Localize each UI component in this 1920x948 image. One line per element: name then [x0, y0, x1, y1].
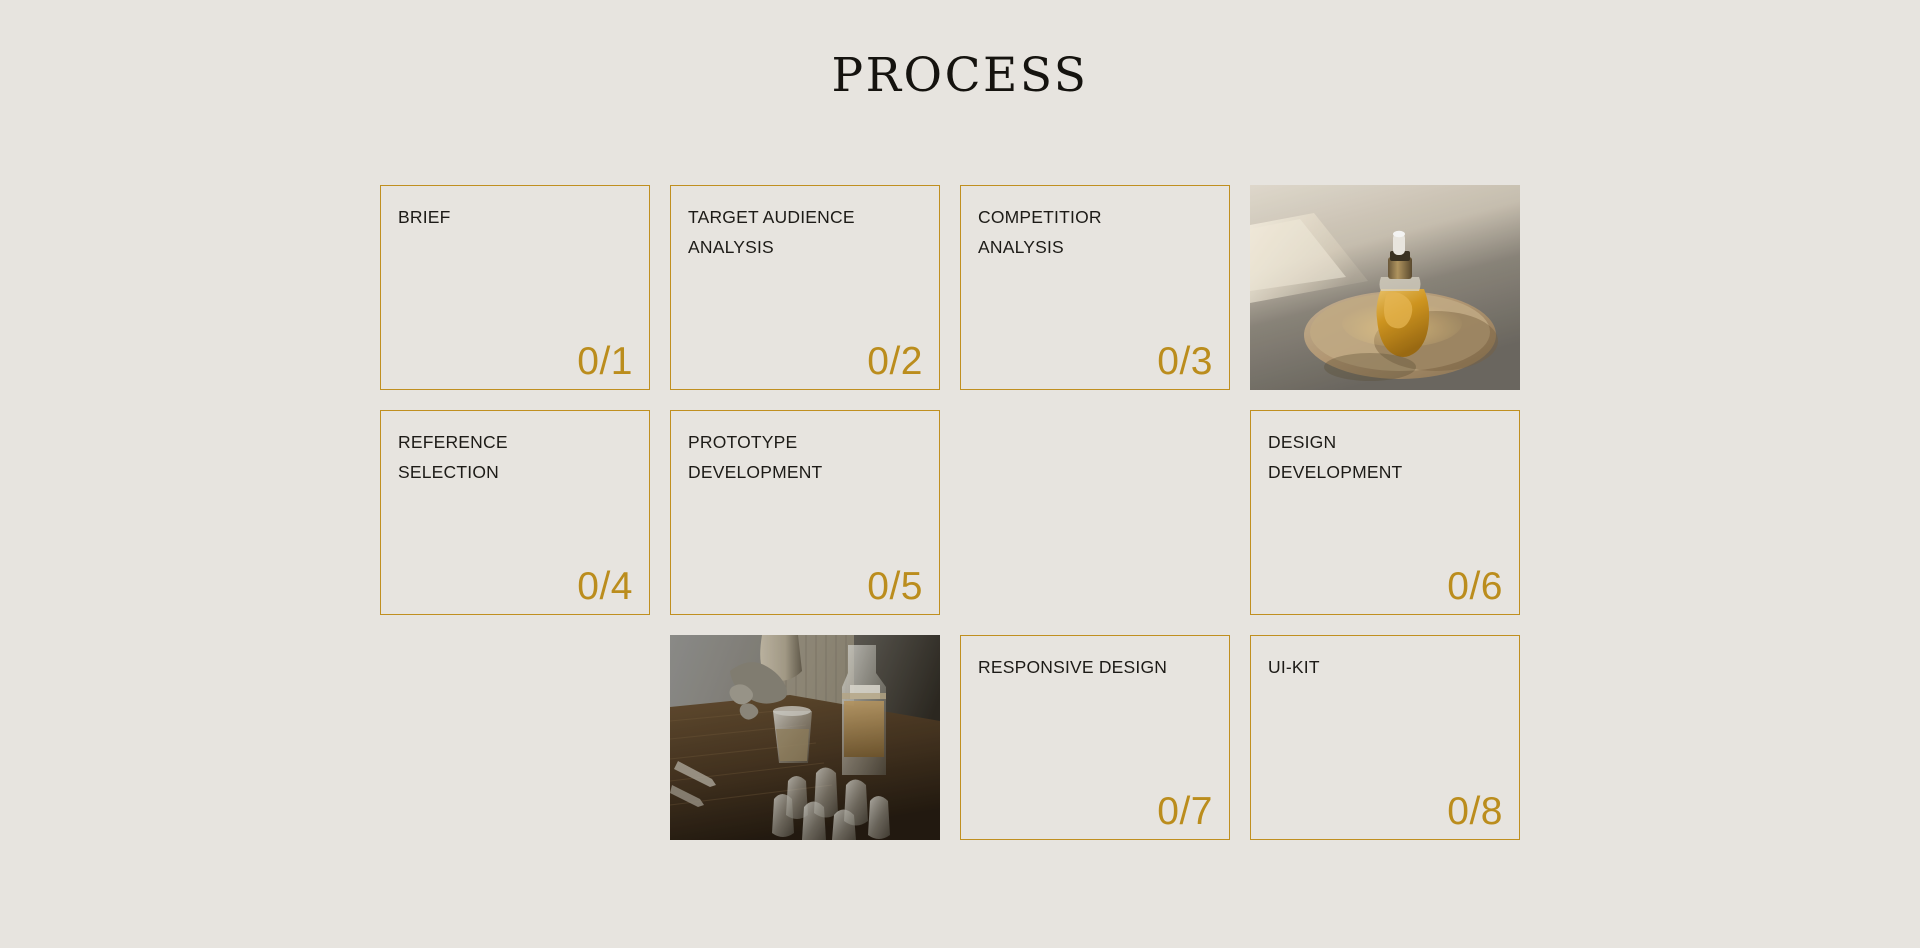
process-step-number: 0/7: [1157, 792, 1213, 831]
empty-cell-row3-col1: [380, 635, 650, 840]
process-step-label: BRIEF: [398, 202, 635, 232]
process-step-target-audience-analysis[interactable]: TARGET AUDIENCE ANALYSIS0/2: [670, 185, 940, 390]
process-step-label: DESIGN DEVELOPMENT: [1268, 427, 1505, 487]
process-step-number: 0/4: [577, 567, 633, 606]
process-step-competitior-analysis[interactable]: COMPETITIOR ANALYSIS0/3: [960, 185, 1230, 390]
process-step-number: 0/3: [1157, 342, 1213, 381]
process-step-responsive-design[interactable]: RESPONSIVE DESIGN0/7: [960, 635, 1230, 840]
process-step-prototype-development[interactable]: PROTOTYPE DEVELOPMENT0/5: [670, 410, 940, 615]
process-step-label: TARGET AUDIENCE ANALYSIS: [688, 202, 925, 262]
process-step-reference-selection[interactable]: REFERENCE SELECTION0/4: [380, 410, 650, 615]
process-step-design-development[interactable]: DESIGN DEVELOPMENT0/6: [1250, 410, 1520, 615]
amber-bottle-photo: [1250, 185, 1520, 390]
page-title: PROCESS: [0, 50, 1920, 102]
process-step-number: 0/8: [1447, 792, 1503, 831]
lab-workshop-illustration: [670, 635, 940, 840]
empty-cell-row2-col3: [960, 410, 1230, 615]
process-step-ui-kit[interactable]: UI-KIT0/8: [1250, 635, 1520, 840]
process-step-label: RESPONSIVE DESIGN: [978, 652, 1215, 682]
process-grid: BRIEF0/1TARGET AUDIENCE ANALYSIS0/2COMPE…: [380, 185, 1520, 840]
process-step-brief[interactable]: BRIEF0/1: [380, 185, 650, 390]
process-step-number: 0/5: [867, 567, 923, 606]
process-step-label: REFERENCE SELECTION: [398, 427, 635, 487]
amber-bottle-illustration: [1250, 185, 1520, 390]
process-step-label: UI-KIT: [1268, 652, 1505, 682]
process-step-number: 0/6: [1447, 567, 1503, 606]
process-step-label: COMPETITIOR ANALYSIS: [978, 202, 1215, 262]
process-step-number: 0/2: [867, 342, 923, 381]
lab-workshop-photo: [670, 635, 940, 840]
process-step-label: PROTOTYPE DEVELOPMENT: [688, 427, 925, 487]
process-step-number: 0/1: [577, 342, 633, 381]
